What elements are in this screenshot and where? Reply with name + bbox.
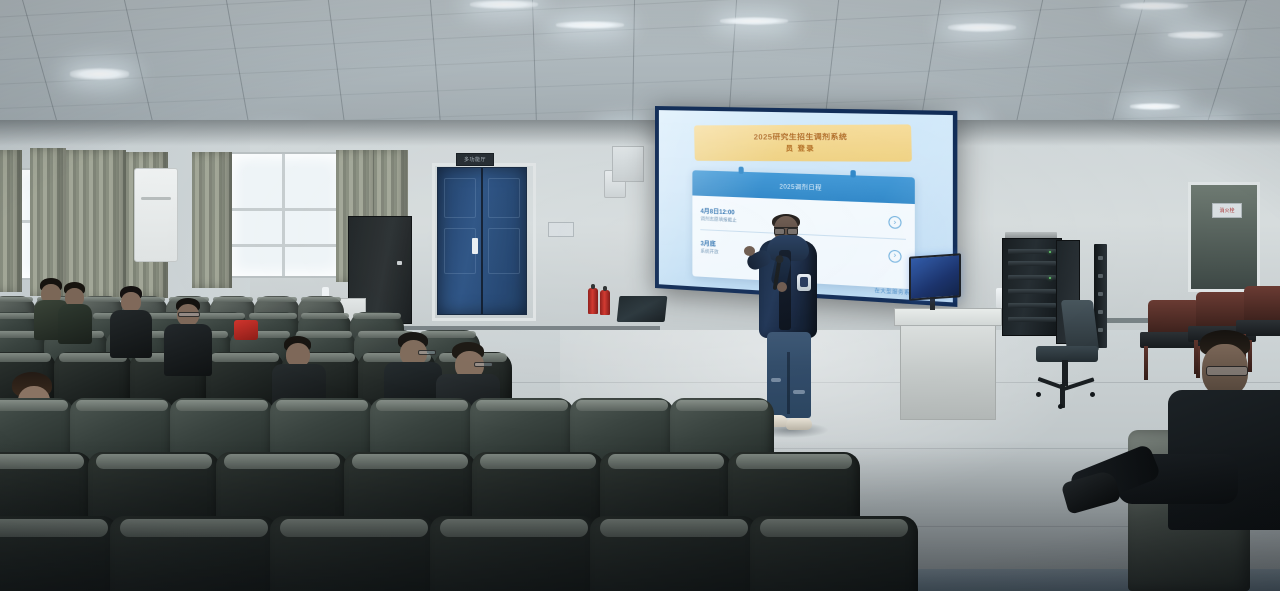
slide-row-1-sub: 系统开放 (700, 248, 718, 255)
slide-row-0-sub: 调剂志愿填报截止 (700, 216, 736, 224)
ceiling-light-3 (720, 17, 788, 25)
chevron-right-icon: › (888, 216, 901, 229)
auditorium-seat[interactable] (750, 516, 918, 591)
right-wall-window (1188, 182, 1260, 292)
auditorium-seat[interactable] (270, 516, 438, 591)
window-center-left (228, 152, 344, 278)
wall-notice-sign (548, 222, 574, 237)
card-tab-right (850, 170, 855, 178)
ceiling-light-6 (1168, 31, 1223, 39)
presenter-right-hand (777, 282, 787, 292)
presenter-right-shoe (786, 418, 812, 430)
slide-row-1-date: 3月底 (700, 238, 718, 248)
red-bag (234, 320, 258, 340)
curtain-left-b (66, 150, 126, 300)
glasses-icon (1206, 366, 1248, 376)
lectern-top (894, 308, 1002, 326)
wall-poster (612, 146, 644, 182)
ceiling-light-0 (70, 68, 129, 80)
presenter-sleeve-patch (797, 274, 811, 291)
chevron-right-icon: › (888, 249, 901, 262)
glasses-icon (774, 227, 798, 233)
slide-title-line1: 2025研究生招生调剂系统 (754, 132, 848, 144)
slide-card-header-text: 2025调剂日程 (779, 181, 822, 192)
curtain-center-a (192, 152, 232, 288)
ceiling-light-5 (1120, 2, 1188, 10)
door-sign: 多功能厅 (456, 153, 494, 166)
auditorium-seat[interactable] (0, 516, 118, 591)
ceiling-light-4 (948, 23, 1016, 32)
ceiling-light-10 (1130, 103, 1180, 109)
slide-title-banner: 2025研究生招生调剂系统 员 登录 (694, 125, 912, 162)
auditorium-seat[interactable] (110, 516, 278, 591)
auditorium-seat[interactable] (590, 516, 758, 591)
slide-card-header: 2025调剂日程 (692, 170, 915, 204)
card-tab-left (739, 167, 744, 174)
slide-title-line2: 员 登录 (786, 144, 815, 154)
curtain-left-a (30, 148, 66, 296)
foreground-attendee (1060, 330, 1280, 591)
presenter-left-hand (744, 246, 755, 256)
air-conditioner-unit (134, 168, 178, 262)
desktop-monitor[interactable] (909, 253, 961, 301)
fire-extinguisher-a (588, 288, 598, 314)
fire-hydrant-sign: 消火栓 (1212, 203, 1242, 218)
ceiling-light-2 (556, 21, 624, 29)
entry-door[interactable] (437, 167, 527, 315)
fire-extinguisher-b (600, 290, 610, 315)
ceiling-light-1 (470, 0, 538, 9)
foreground-shoe (1061, 469, 1122, 515)
auditorium-seat[interactable] (430, 516, 598, 591)
wall-ceiling-shadow (0, 120, 1280, 146)
lecture-hall-photo: 多功能厅 2025研究生招生调剂系统 员 登录 2025调剂日程 4 (0, 0, 1280, 591)
lectern[interactable] (900, 316, 996, 420)
floor-speaker (617, 296, 668, 322)
curtain-far-left (0, 150, 22, 292)
